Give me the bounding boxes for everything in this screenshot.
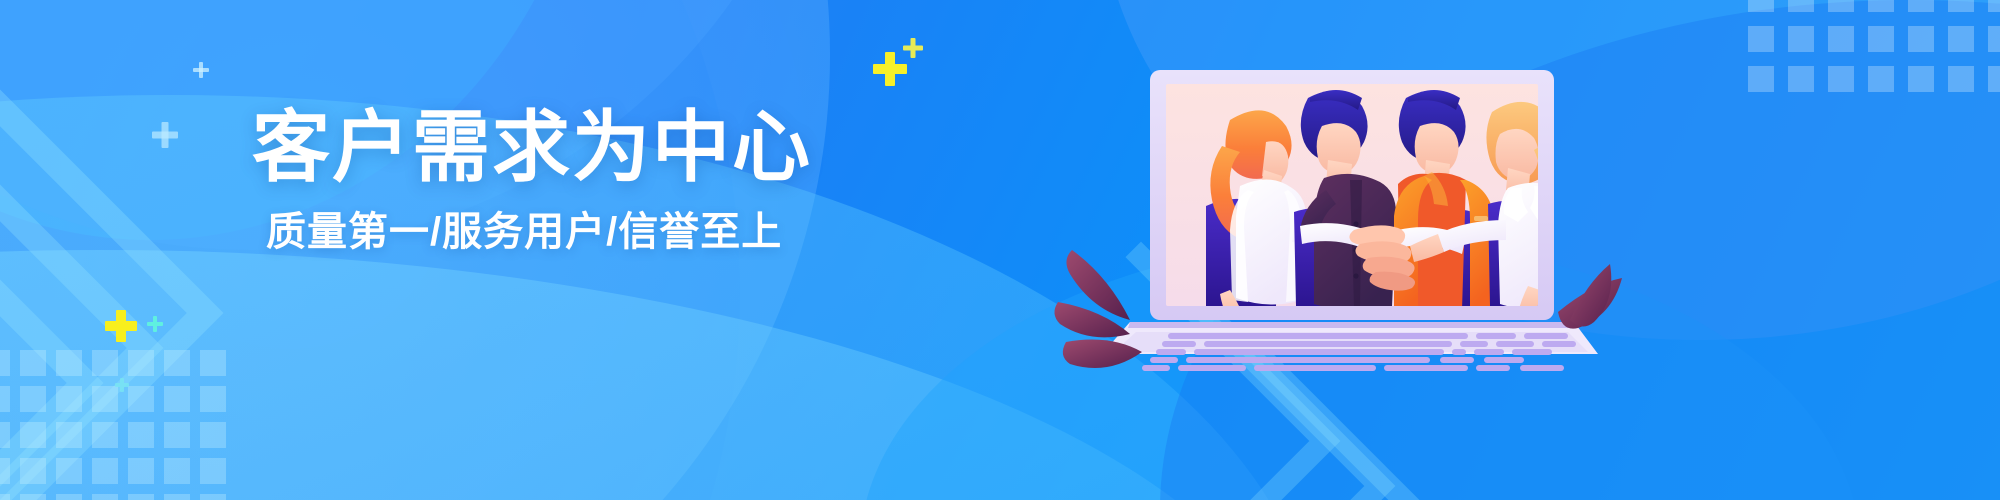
grid-cell bbox=[56, 422, 82, 448]
team-handstack-illustration bbox=[1128, 54, 1598, 354]
grid-cell bbox=[128, 386, 154, 412]
grid-cell bbox=[1868, 66, 1894, 92]
grid-cell bbox=[56, 350, 82, 376]
plus-cyan-mid-icon bbox=[115, 378, 129, 392]
grid-cell bbox=[92, 494, 118, 500]
grid-cell bbox=[1828, 26, 1854, 52]
grid-cell bbox=[1908, 66, 1934, 92]
leaf-spray-right bbox=[1558, 264, 1622, 329]
grid-cell bbox=[1908, 26, 1934, 52]
grid-cell bbox=[1748, 26, 1774, 52]
grid-cell bbox=[56, 458, 82, 484]
grid-cell bbox=[128, 494, 154, 500]
grid-cell bbox=[20, 422, 46, 448]
leaf-spray-left bbox=[1054, 250, 1142, 368]
banner-subheadline: 质量第一/服务用户/信誉至上 bbox=[266, 210, 872, 254]
grid-cell bbox=[1948, 66, 1974, 92]
grid-cell bbox=[128, 458, 154, 484]
grid-cell bbox=[200, 494, 226, 500]
grid-cell bbox=[1788, 66, 1814, 92]
grid-cell bbox=[1948, 0, 1974, 12]
grid-cell bbox=[1868, 0, 1894, 12]
grid-cell bbox=[0, 386, 10, 412]
grid-cell bbox=[164, 494, 190, 500]
square-grid-top-right bbox=[1748, 0, 2000, 92]
grid-cell bbox=[1988, 26, 2000, 52]
grid-cell bbox=[0, 350, 10, 376]
laptop-base bbox=[1102, 322, 1598, 371]
grid-cell bbox=[92, 350, 118, 376]
grid-cell bbox=[20, 350, 46, 376]
banner-headline: 客户需求为中心 bbox=[252, 108, 872, 188]
grid-cell bbox=[1988, 66, 2000, 92]
grid-cell bbox=[200, 458, 226, 484]
grid-cell bbox=[0, 422, 10, 448]
grid-cell bbox=[92, 422, 118, 448]
grid-cell bbox=[200, 350, 226, 376]
plus-yellow-large-icon bbox=[873, 52, 907, 86]
grid-cell bbox=[1988, 0, 2000, 12]
promo-banner: 客户需求为中心 质量第一/服务用户/信誉至上 bbox=[0, 0, 2000, 500]
grid-cell bbox=[1788, 0, 1814, 12]
grid-cell bbox=[164, 422, 190, 448]
grid-cell bbox=[164, 458, 190, 484]
grid-cell bbox=[1828, 66, 1854, 92]
plus-white-lower-icon bbox=[152, 122, 178, 148]
plus-cyan-bottom-left-icon bbox=[147, 316, 163, 332]
plus-yellow-bottom-left-icon bbox=[105, 310, 137, 342]
grid-cell bbox=[56, 386, 82, 412]
grid-cell bbox=[1908, 0, 1934, 12]
grid-cell bbox=[200, 386, 226, 412]
grid-cell bbox=[164, 350, 190, 376]
grid-cell bbox=[20, 494, 46, 500]
grid-cell bbox=[0, 458, 10, 484]
grid-cell bbox=[0, 494, 10, 500]
grid-cell bbox=[1948, 26, 1974, 52]
grid-cell bbox=[128, 350, 154, 376]
square-grid-bottom-left bbox=[0, 350, 226, 500]
grid-cell bbox=[1748, 66, 1774, 92]
grid-cell bbox=[20, 386, 46, 412]
grid-cell bbox=[92, 458, 118, 484]
grid-cell bbox=[128, 422, 154, 448]
grid-cell bbox=[200, 422, 226, 448]
grid-cell bbox=[1748, 0, 1774, 12]
grid-cell bbox=[1828, 0, 1854, 12]
plus-white-upper-icon bbox=[193, 62, 209, 78]
grid-cell bbox=[20, 458, 46, 484]
plus-yellow-small-icon bbox=[903, 38, 923, 58]
banner-copy: 客户需求为中心 质量第一/服务用户/信誉至上 bbox=[252, 108, 872, 254]
grid-cell bbox=[56, 494, 82, 500]
grid-cell bbox=[164, 386, 190, 412]
grid-cell bbox=[1788, 26, 1814, 52]
grid-cell bbox=[1868, 26, 1894, 52]
